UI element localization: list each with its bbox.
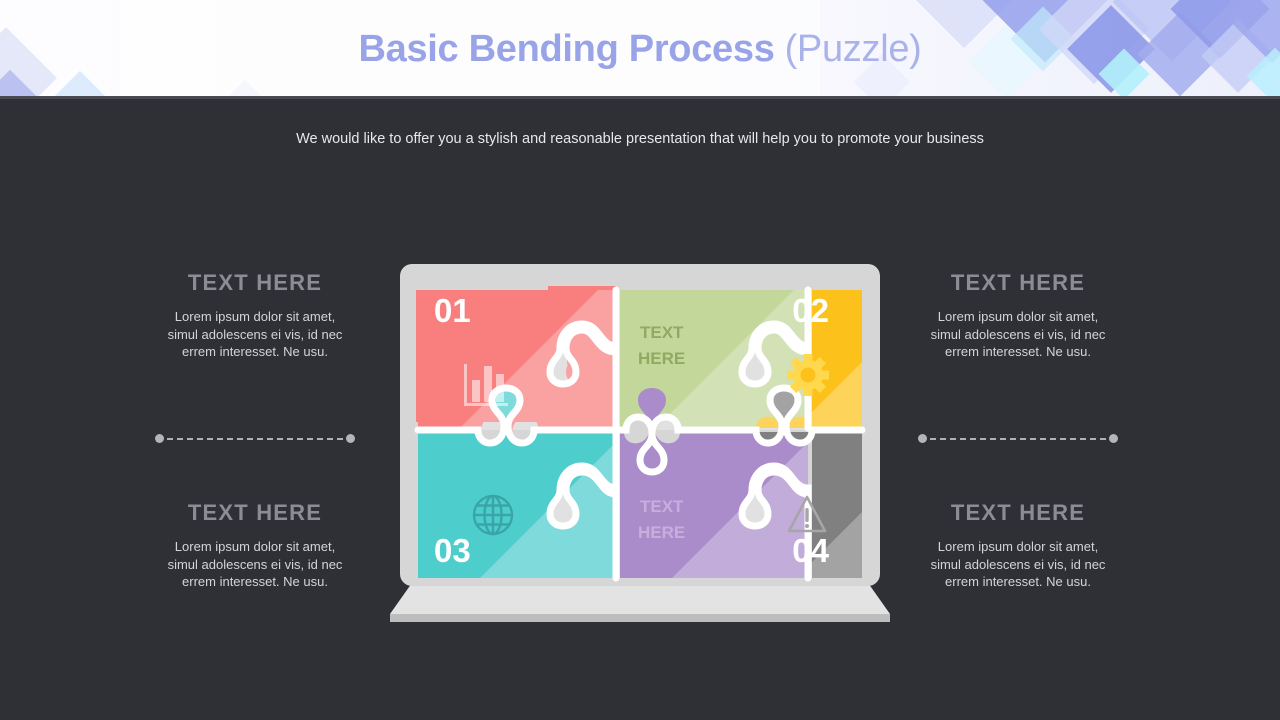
text-block-body: Lorem ipsum dolor sit amet, simul adoles… bbox=[125, 308, 385, 361]
divider-dot-start bbox=[918, 434, 927, 443]
text-block-top-left: TEXT HERE Lorem ipsum dolor sit amet, si… bbox=[125, 270, 385, 361]
divider-left bbox=[155, 434, 355, 443]
text-block-heading: TEXT HERE bbox=[888, 270, 1148, 296]
piece-03-number: 03 bbox=[434, 532, 471, 569]
text-block-bottom-left: TEXT HERE Lorem ipsum dolor sit amet, si… bbox=[125, 500, 385, 591]
piece-02-number: 02 bbox=[792, 292, 829, 329]
laptop-base bbox=[390, 580, 890, 622]
svg-text:TEXT: TEXT bbox=[640, 323, 684, 342]
text-block-bottom-right: TEXT HERE Lorem ipsum dolor sit amet, si… bbox=[888, 500, 1148, 591]
piece-01-number: 01 bbox=[434, 292, 471, 329]
divider-dot-end bbox=[346, 434, 355, 443]
svg-text:HERE: HERE bbox=[638, 523, 685, 542]
text-block-body: Lorem ipsum dolor sit amet, simul adoles… bbox=[888, 538, 1148, 591]
globe-icon bbox=[474, 496, 512, 534]
text-block-heading: TEXT HERE bbox=[125, 500, 385, 526]
text-block-body: Lorem ipsum dolor sit amet, simul adoles… bbox=[888, 308, 1148, 361]
divider-right bbox=[918, 434, 1118, 443]
page-title: Basic Bending Process (Puzzle) bbox=[0, 0, 1280, 98]
text-block-heading: TEXT HERE bbox=[125, 270, 385, 296]
laptop-svg: 01 02 03 04 TEXT HERE TEXT HERE bbox=[388, 262, 892, 622]
page-header: Basic Bending Process (Puzzle) bbox=[0, 0, 1280, 98]
piece-04-number: 04 bbox=[792, 532, 829, 569]
text-block-body: Lorem ipsum dolor sit amet, simul adoles… bbox=[125, 538, 385, 591]
header-divider bbox=[0, 96, 1280, 99]
gear-icon bbox=[787, 354, 829, 396]
divider-dashed-line bbox=[930, 438, 1106, 440]
divider-dot-end bbox=[1109, 434, 1118, 443]
page-title-light: (Puzzle) bbox=[785, 28, 922, 71]
divider-dashed-line bbox=[167, 438, 343, 440]
puzzle-board: 01 02 03 04 TEXT HERE TEXT HERE bbox=[410, 284, 870, 584]
text-block-top-right: TEXT HERE Lorem ipsum dolor sit amet, si… bbox=[888, 270, 1148, 361]
laptop-puzzle-illustration: 01 02 03 04 TEXT HERE TEXT HERE bbox=[388, 262, 892, 622]
page-subtitle: We would like to offer you a stylish and… bbox=[0, 131, 1280, 147]
svg-text:TEXT: TEXT bbox=[640, 497, 684, 516]
text-block-heading: TEXT HERE bbox=[888, 500, 1148, 526]
svg-text:HERE: HERE bbox=[638, 349, 685, 368]
divider-dot-start bbox=[155, 434, 164, 443]
page-title-strong: Basic Bending Process bbox=[358, 28, 774, 71]
